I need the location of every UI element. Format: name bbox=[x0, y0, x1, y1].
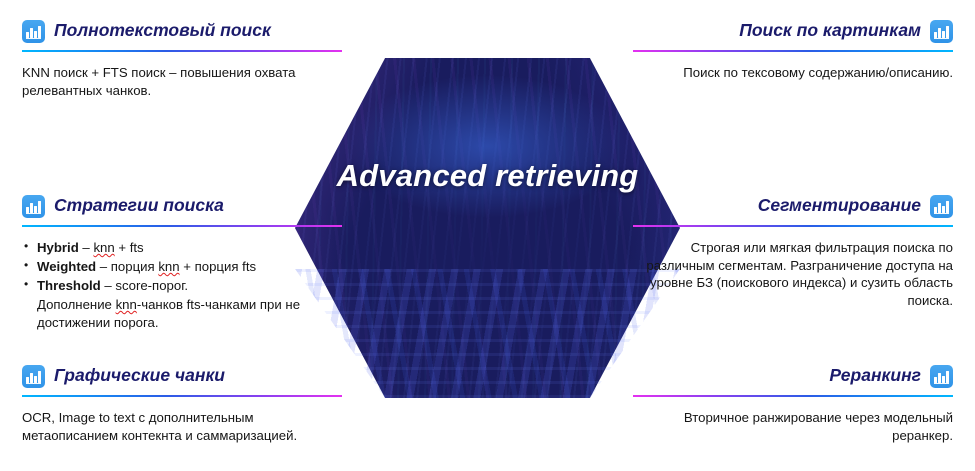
panel-text-graphic-chunks: OCR, Image to text с дополнительным мета… bbox=[22, 409, 342, 444]
panel-fulltext-search: Полнотекстовый поиск KNN поиск + FTS пои… bbox=[22, 18, 342, 99]
bar-chart-icon bbox=[22, 365, 45, 388]
panel-search-strategies: Стратегии поиска Hybrid – knn + fts Weig… bbox=[22, 193, 342, 333]
center-hexagon-graphic bbox=[295, 58, 680, 398]
bar-chart-icon bbox=[930, 195, 953, 218]
panel-divider bbox=[633, 225, 953, 227]
strategy-bullet-list: Hybrid – knn + fts Weighted – порция knn… bbox=[22, 239, 342, 332]
panel-divider bbox=[22, 225, 342, 227]
panel-header: Полнотекстовый поиск bbox=[22, 18, 342, 44]
panel-divider bbox=[22, 395, 342, 397]
list-item: Hybrid – knn + fts bbox=[22, 239, 342, 257]
panel-title-fulltext-search: Полнотекстовый поиск bbox=[54, 22, 271, 40]
panel-divider bbox=[22, 50, 342, 52]
panel-text-reranking: Вторичное ранжирование через модельный р… bbox=[633, 409, 953, 444]
panel-divider bbox=[633, 50, 953, 52]
bar-chart-icon bbox=[930, 20, 953, 43]
bullet-term: Threshold bbox=[37, 278, 101, 293]
panel-body: OCR, Image to text с дополнительным мета… bbox=[22, 409, 342, 444]
bullet-dash: – bbox=[101, 278, 116, 293]
bullet-text: score-порог. bbox=[115, 278, 188, 293]
bar-chart-icon bbox=[22, 20, 45, 43]
panel-title-search-strategies: Стратегии поиска bbox=[54, 197, 224, 215]
panel-title-image-search: Поиск по картинкам bbox=[739, 22, 921, 40]
panel-header: Поиск по картинкам bbox=[633, 18, 953, 44]
panel-text-fulltext-search: KNN поиск + FTS поиск – повышения охвата… bbox=[22, 64, 342, 99]
panel-reranking: Реранкинг Вторичное ранжирование через м… bbox=[633, 363, 953, 444]
panel-graphic-chunks: Графические чанки OCR, Image to text с д… bbox=[22, 363, 342, 444]
hexagon-floor-texture bbox=[295, 269, 680, 398]
panel-header: Стратегии поиска bbox=[22, 193, 342, 219]
panel-header: Реранкинг bbox=[633, 363, 953, 389]
panel-text-image-search: Поиск по тексовому содержанию/описанию. bbox=[633, 64, 953, 82]
list-item: Threshold – score-порог. bbox=[22, 277, 342, 295]
hexagon-light-rays bbox=[295, 58, 680, 398]
panel-title-reranking: Реранкинг bbox=[829, 367, 921, 385]
bullet-text: порция knn + порция fts bbox=[111, 259, 256, 274]
panel-title-graphic-chunks: Графические чанки bbox=[54, 367, 225, 385]
bullet-term: Weighted bbox=[37, 259, 96, 274]
panel-title-segmentation: Сегментирование bbox=[758, 197, 921, 215]
panel-header: Сегментирование bbox=[633, 193, 953, 219]
panel-body: Вторичное ранжирование через модельный р… bbox=[633, 409, 953, 444]
hexagon-edge-light bbox=[295, 58, 680, 398]
bar-chart-icon bbox=[22, 195, 45, 218]
bar-chart-icon bbox=[930, 365, 953, 388]
bullet-term: Hybrid bbox=[37, 240, 79, 255]
hexagon-glow bbox=[295, 58, 680, 398]
panel-text-segmentation: Строгая или мягкая фильтрация поиска по … bbox=[633, 239, 953, 309]
list-item-continuation: Дополнение knn-чанков fts-чанками при не… bbox=[22, 296, 342, 332]
panel-body: Строгая или мягкая фильтрация поиска по … bbox=[633, 239, 953, 309]
panel-body: Hybrid – knn + fts Weighted – порция knn… bbox=[22, 239, 342, 332]
panel-image-search: Поиск по картинкам Поиск по тексовому со… bbox=[633, 18, 953, 82]
list-item: Weighted – порция knn + порция fts bbox=[22, 258, 342, 276]
panel-body: Поиск по тексовому содержанию/описанию. bbox=[633, 64, 953, 82]
panel-segmentation: Сегментирование Строгая или мягкая фильт… bbox=[633, 193, 953, 309]
slide: Advanced retrieving Полнотекстовый поиск… bbox=[0, 0, 975, 471]
panel-divider bbox=[633, 395, 953, 397]
panel-body: KNN поиск + FTS поиск – повышения охвата… bbox=[22, 64, 342, 99]
bullet-dash: – bbox=[79, 240, 94, 255]
bullet-dash: – bbox=[96, 259, 111, 274]
bullet-text: knn + fts bbox=[93, 240, 143, 255]
panel-header: Графические чанки bbox=[22, 363, 342, 389]
hexagon-background bbox=[295, 58, 680, 398]
center-title: Advanced retrieving bbox=[0, 158, 975, 194]
